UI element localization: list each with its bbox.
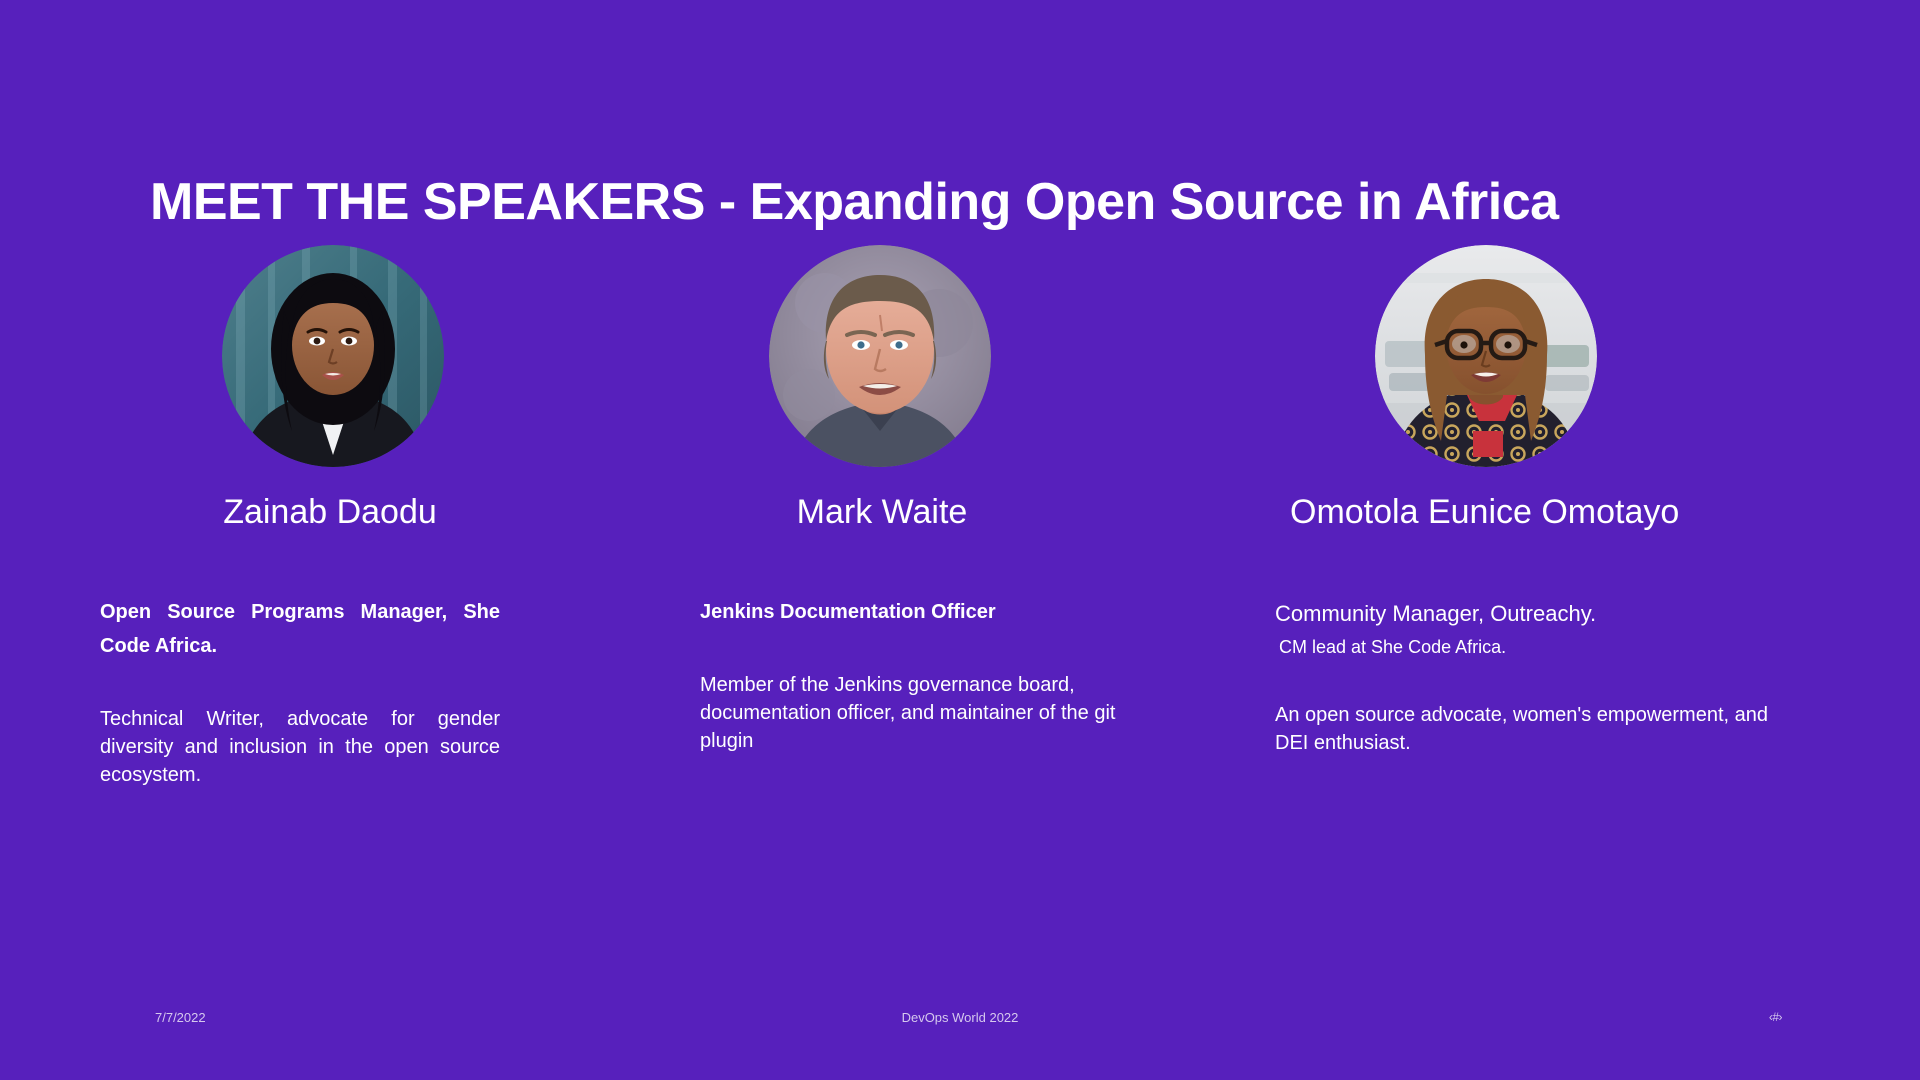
speaker-bio: An open source advocate, women's empower… (1275, 701, 1795, 757)
speaker-role: Community Manager, Outreachy. (1275, 595, 1795, 632)
slide-canvas: MEET THE SPEAKERS - Expanding Open Sourc… (0, 0, 1920, 1080)
footer-event-name: DevOps World 2022 (0, 1010, 1920, 1025)
page-title: MEET THE SPEAKERS - Expanding Open Sourc… (150, 173, 1790, 231)
avatar (769, 245, 991, 467)
speaker-card-1: Zainab Daodu Open Source Programs Manage… (105, 240, 665, 533)
slide-footer: 7/7/2022 DevOps World 2022 ‹#› (0, 1010, 1920, 1032)
mark-waite-photo (769, 245, 991, 467)
speaker-text-block-1: Open Source Programs Manager, She Code A… (100, 595, 500, 789)
avatar-wrap-2 (700, 240, 1260, 470)
speaker-card-3: Omotola Eunice Omotayo Community Manager… (1280, 240, 1840, 533)
footer-slide-number: ‹#› (1769, 1010, 1782, 1024)
speaker-bio: Member of the Jenkins governance board, … (700, 671, 1170, 755)
speakers-row: Zainab Daodu Open Source Programs Manage… (0, 240, 1920, 940)
zainab-daodu-photo (222, 245, 444, 467)
speaker-name: Omotola Eunice Omotayo (1235, 492, 1790, 533)
speaker-name: Mark Waite (712, 492, 1052, 533)
avatar (222, 245, 444, 467)
avatar (1375, 245, 1597, 467)
speaker-text-block-3: Community Manager, Outreachy. CM lead at… (1275, 595, 1795, 757)
avatar-wrap-3 (1280, 240, 1840, 470)
speaker-card-2: Mark Waite Jenkins Documentation Officer… (700, 240, 1260, 533)
avatar-wrap-1 (105, 240, 665, 470)
speaker-role: Jenkins Documentation Officer (700, 595, 1170, 629)
speaker-role: Open Source Programs Manager, She Code A… (100, 595, 500, 663)
speaker-text-block-2: Jenkins Documentation Officer Member of … (700, 595, 1170, 755)
speaker-subrole: CM lead at She Code Africa. (1275, 634, 1795, 661)
omotola-eunice-omotayo-photo (1375, 245, 1597, 467)
speaker-name: Zainab Daodu (160, 492, 500, 533)
speaker-bio: Technical Writer, advocate for gender di… (100, 705, 500, 789)
